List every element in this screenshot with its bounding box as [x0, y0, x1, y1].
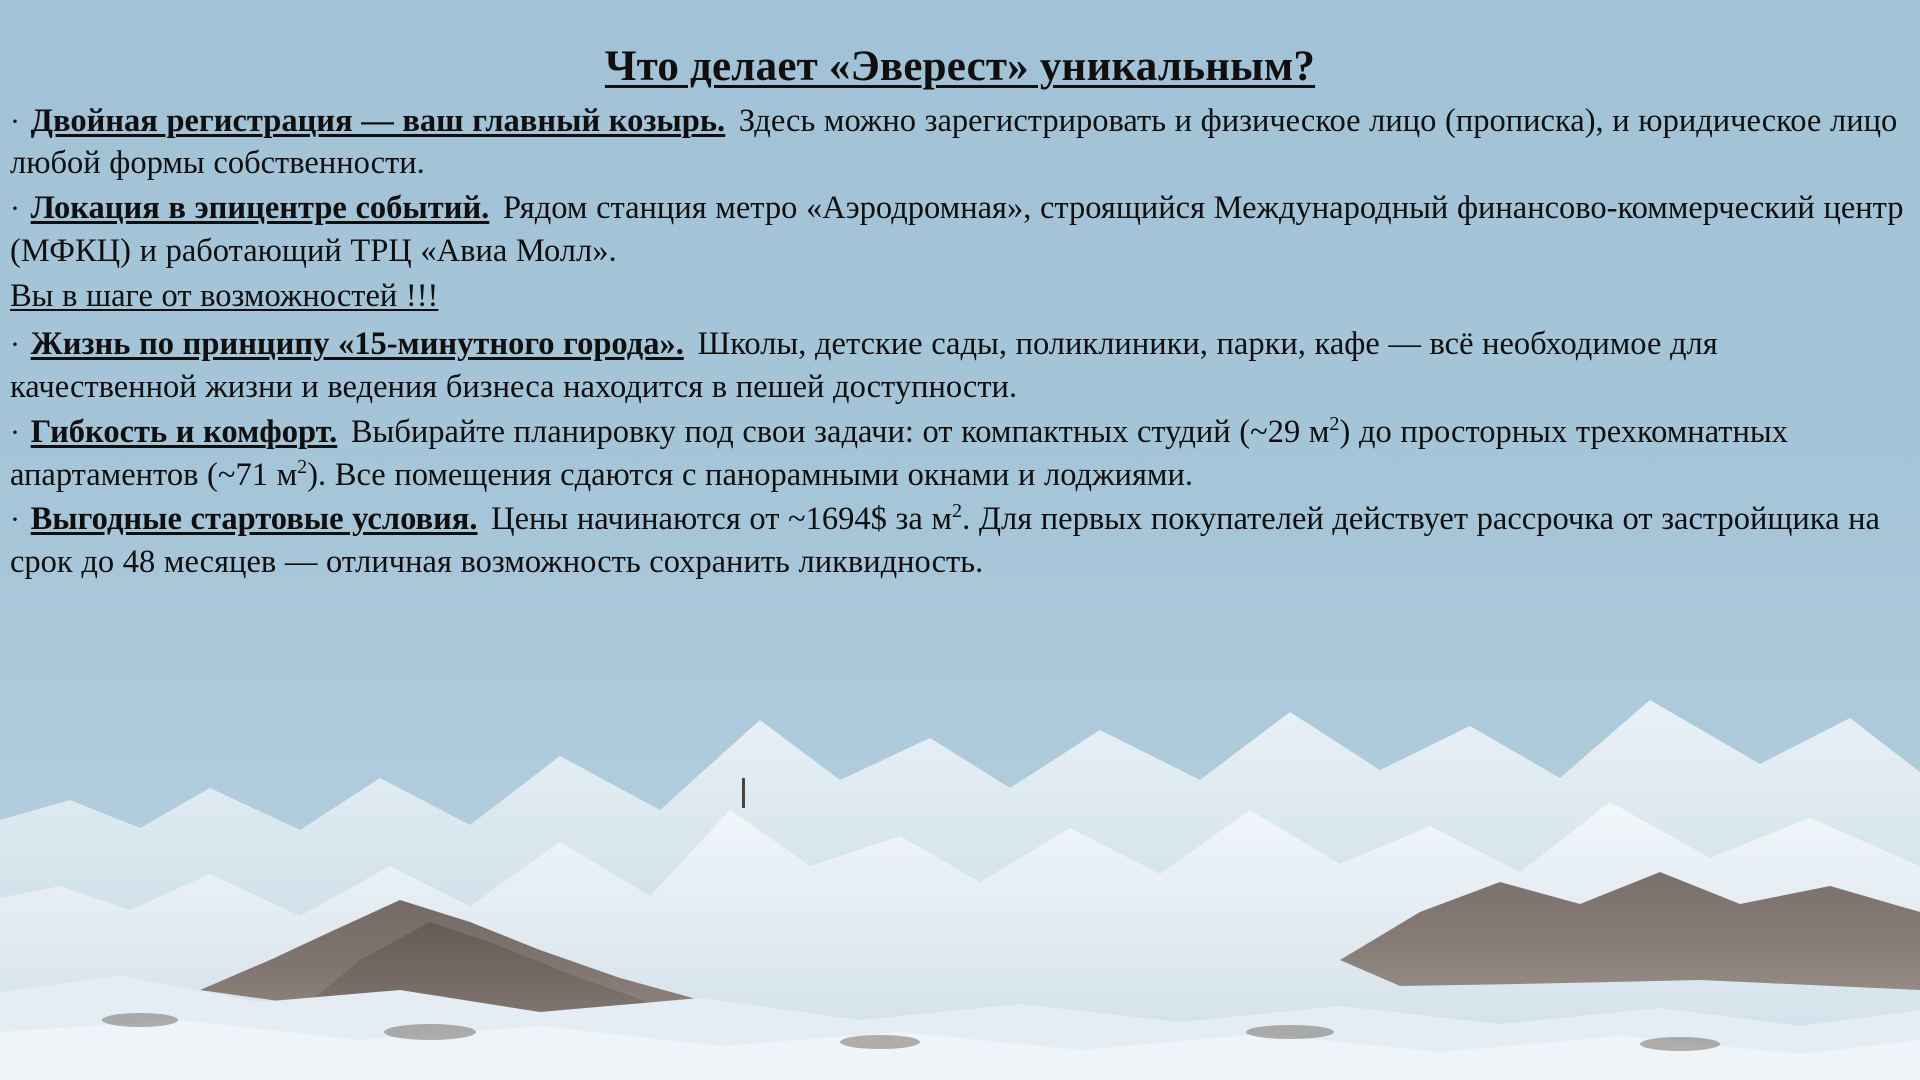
bullet-lead-pricing: Выгодные стартовые условия.: [31, 501, 478, 537]
bullet-marker-icon: ·: [10, 105, 22, 138]
bullet-lead-flexibility: Гибкость и комфорт.: [31, 414, 338, 450]
callout-text: Вы в шаге от возможностей !!!: [10, 278, 438, 314]
bullet-item-pricing: · Выгодные стартовые условия. Цены начин…: [10, 498, 1906, 583]
bullet-list: · Двойная регистрация — ваш главный козы…: [0, 100, 1920, 584]
bullet-item-location: · Локация в эпицентре событий. Рядом ста…: [10, 187, 1906, 272]
bullet-item-flexibility: · Гибкость и комфорт. Выбирайте планиров…: [10, 411, 1906, 496]
bullet-marker-icon: ·: [10, 328, 22, 361]
bullet-marker-icon: ·: [10, 503, 22, 536]
mountain-range-background: [0, 660, 1920, 1080]
peak-antenna-icon: [742, 778, 745, 808]
bullet-lead-dual-registration: Двойная регистрация — ваш главный козырь…: [31, 103, 726, 139]
presentation-slide: Что делает «Эверест» уникальным? · Двойн…: [0, 0, 1920, 1080]
bullet-item-dual-registration: · Двойная регистрация — ваш главный козы…: [10, 100, 1906, 185]
bullet-item-15-minute-city: · Жизнь по принципу «15-минутного города…: [10, 323, 1906, 408]
bullet-marker-icon: ·: [10, 192, 22, 225]
page-title: Что делает «Эверест» уникальным?: [0, 40, 1920, 94]
callout-opportunity: Вы в шаге от возможностей !!!: [10, 275, 1906, 318]
bullet-marker-icon: ·: [10, 416, 22, 449]
bullet-lead-15-minute-city: Жизнь по принципу «15-минутного города».: [31, 326, 684, 362]
slide-content: Что делает «Эверест» уникальным? · Двойн…: [0, 0, 1920, 586]
bullet-lead-location: Локация в эпицентре событий.: [31, 190, 490, 226]
